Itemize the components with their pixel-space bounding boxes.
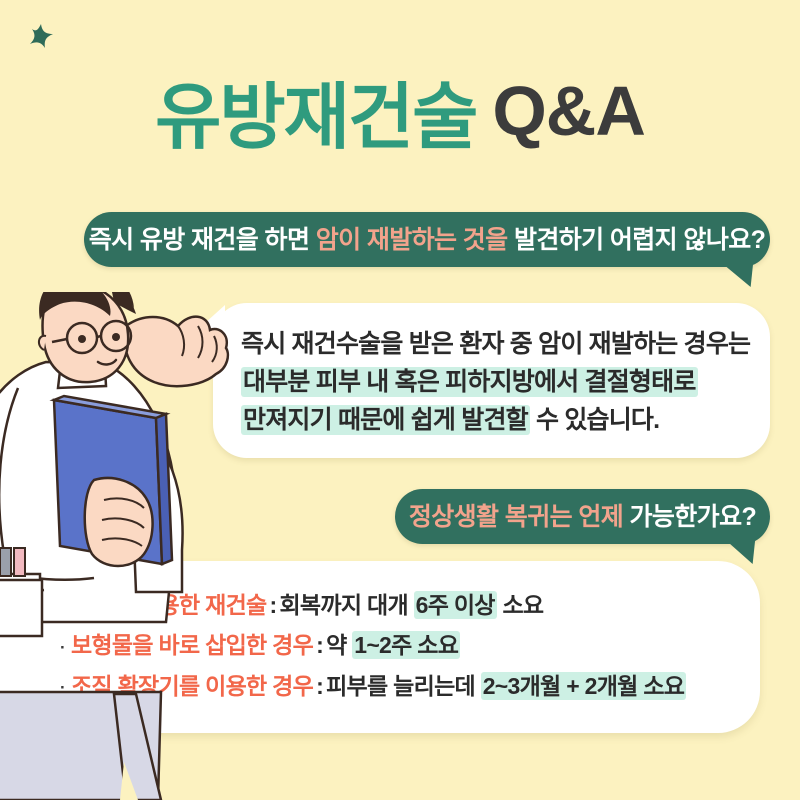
bullet-1-detail: 회복까지 대개: [279, 592, 413, 618]
bullet-2-separator: :: [316, 632, 323, 658]
question-bubble-2: 정상생활 복귀는 언제 가능한가요?: [395, 489, 770, 544]
question-bubble-1: 즉시 유방 재건을 하면 암이 재발하는 것을 발견하기 어렵지 않나요?: [84, 212, 770, 267]
page-title-english: Q&A: [492, 72, 645, 150]
bullet-3-detail: 피부를 늘리는데: [326, 673, 481, 699]
answer-1-line-3-text: 수 있습니다.: [530, 406, 659, 434]
question-2-bubble-tail: [721, 538, 756, 564]
question-2-accent: 정상생활 복귀는 언제: [409, 503, 623, 531]
question-1-part-after: 발견하기 어렵지 않나요?: [508, 226, 766, 254]
bullet-1-highlight: 6주 이상: [414, 591, 497, 619]
bullet-2-detail: 약: [326, 632, 352, 658]
page-title: 유방재건술Q&A: [0, 58, 800, 163]
answer-1-line-3: 만져지기 때문에 쉽게 발견할 수 있습니다.: [241, 401, 742, 439]
doctor-illustration: [0, 292, 236, 800]
poster-root: 유방재건술Q&A 즉시 유방 재건을 하면 암이 재발하는 것을 발견하기 어렵…: [0, 0, 800, 800]
question-1-part-before: 즉시 유방 재건을 하면: [89, 226, 316, 254]
question-1-accent: 암이 재발하는 것을: [316, 226, 508, 254]
star-icon: [22, 20, 62, 60]
page-title-korean: 유방재건술: [155, 78, 476, 158]
answer-1-line-2: 대부분 피부 내 혹은 피하지방에서 결절형태로: [241, 363, 742, 401]
question-2-text: 정상생활 복귀는 언제 가능한가요?: [409, 502, 756, 532]
question-1-bubble-tail: [717, 261, 754, 287]
answer-1-line-1-text: 즉시 재건수술을 받은 환자 중 암이 재발하는 경우는: [241, 330, 750, 358]
answer-1-line-2-highlight: 대부분 피부 내 혹은 피하지방에서 결절형태로: [241, 367, 698, 397]
answer-1-line-3-highlight: 만져지기 때문에 쉽게 발견할: [241, 405, 530, 435]
answer-bubble-1: 즉시 재건수술을 받은 환자 중 암이 재발하는 경우는 대부분 피부 내 혹은…: [213, 303, 770, 458]
question-2-part-after: 가능한가요?: [623, 503, 756, 531]
question-1-text: 즉시 유방 재건을 하면 암이 재발하는 것을 발견하기 어렵지 않나요?: [89, 225, 766, 255]
answer-1-line-1: 즉시 재건수술을 받은 환자 중 암이 재발하는 경우는: [241, 325, 742, 363]
bullet-3-highlight: 2~3개월 + 2개월 소요: [481, 672, 687, 700]
bullet-1-separator: :: [270, 592, 277, 618]
bullet-3-separator: :: [316, 673, 323, 699]
bullet-1-detail-tail: 소요: [497, 592, 544, 618]
bullet-2-highlight: 1~2주 소요: [352, 631, 460, 659]
